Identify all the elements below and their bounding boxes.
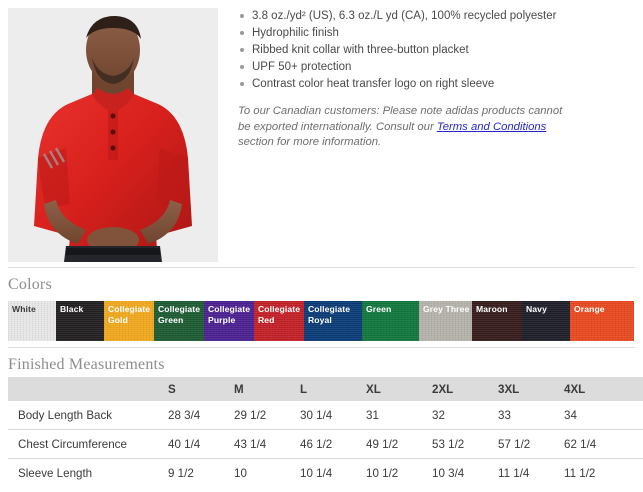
section-divider-measurements [8, 347, 635, 348]
table-row: Chest Circumference 40 1/4 43 1/4 46 1/2… [8, 429, 643, 458]
feature-text: Ribbed knit collar with three-button pla… [252, 44, 469, 56]
feature-text: UPF 50+ protection [252, 61, 351, 73]
list-item: 3.8 oz./yd² (US), 6.3 oz./L yd (CA), 100… [238, 8, 636, 25]
swatch-label: Collegiate Green [158, 304, 203, 325]
column-header-3xl: 3XL [498, 383, 564, 396]
cell-value: 53 1/2 [432, 438, 498, 451]
cell-value: 34 [564, 409, 630, 422]
swatch-label: Collegiate Red [258, 304, 303, 325]
table-row: Body Length Back 28 3/4 29 1/2 30 1/4 31… [8, 401, 643, 429]
feature-text: 3.8 oz./yd² (US), 6.3 oz./L yd (CA), 100… [252, 10, 556, 22]
color-swatch-navy[interactable]: Navy [522, 301, 570, 341]
row-label: Chest Circumference [8, 438, 168, 451]
canadian-customers-note: To our Canadian customers: Please note a… [238, 104, 568, 151]
bullet-icon [240, 31, 244, 35]
cell-value: 11 1/4 [498, 467, 564, 480]
feature-text: Contrast color heat transfer logo on rig… [252, 78, 494, 90]
bullet-icon [240, 82, 244, 86]
cell-value: 10 1/4 [300, 467, 366, 480]
model-illustration [8, 8, 218, 262]
color-swatch-collegiate-royal[interactable]: Collegiate Royal [304, 301, 362, 341]
cell-value: 33 [498, 409, 564, 422]
product-overview-section: 3.8 oz./yd² (US), 6.3 oz./L yd (CA), 100… [0, 0, 643, 262]
color-swatch-maroon[interactable]: Maroon [472, 301, 522, 341]
bullet-icon [240, 65, 244, 69]
swatch-label: Black [60, 304, 103, 315]
cell-value: 10 [234, 467, 300, 480]
cell-value: 10 1/2 [366, 467, 432, 480]
column-header-4xl: 4XL [564, 383, 630, 396]
table-header-row: S M L XL 2XL 3XL 4XL [8, 377, 643, 401]
color-swatch-grey-three[interactable]: Grey Three [419, 301, 472, 341]
cell-value: 40 1/4 [168, 438, 234, 451]
color-swatch-collegiate-purple[interactable]: Collegiate Purple [204, 301, 254, 341]
swatch-label: Orange [574, 304, 633, 315]
color-swatch-collegiate-green[interactable]: Collegiate Green [154, 301, 204, 341]
cell-value: 49 1/2 [366, 438, 432, 451]
color-swatch-green[interactable]: Green [362, 301, 419, 341]
swatch-label: White [12, 304, 55, 315]
swatch-label: Collegiate Purple [208, 304, 253, 325]
swatch-label: Collegiate Gold [108, 304, 153, 325]
list-item: UPF 50+ protection [238, 59, 636, 76]
cell-value: 30 1/4 [300, 409, 366, 422]
product-image[interactable] [8, 8, 218, 262]
color-swatch-white[interactable]: White [8, 301, 56, 341]
note-text-after: section for more information. [238, 136, 381, 148]
bullet-icon [240, 48, 244, 52]
swatch-label: Green [366, 304, 418, 315]
swatch-label: Grey Three [423, 304, 471, 315]
cell-value: 10 3/4 [432, 467, 498, 480]
color-swatch-list: White Black Collegiate Gold Collegiate G… [8, 301, 634, 341]
measurements-heading: Finished Measurements [8, 356, 165, 374]
column-header-2xl: 2XL [432, 383, 498, 396]
column-header-s: S [168, 383, 234, 396]
finished-measurements-table: S M L XL 2XL 3XL 4XL Body Length Back 28… [8, 377, 643, 487]
row-label: Sleeve Length [8, 467, 168, 480]
list-item: Ribbed knit collar with three-button pla… [238, 42, 636, 59]
product-features: 3.8 oz./yd² (US), 6.3 oz./L yd (CA), 100… [238, 8, 636, 162]
cell-value: 32 [432, 409, 498, 422]
list-item: Hydrophilic finish [238, 25, 636, 42]
swatch-label: Navy [526, 304, 569, 315]
color-swatch-black[interactable]: Black [56, 301, 104, 341]
swatch-label: Maroon [476, 304, 521, 315]
column-header-l: L [300, 383, 366, 396]
section-divider-colors [8, 267, 635, 268]
column-header-xl: XL [366, 383, 432, 396]
cell-value: 57 1/2 [498, 438, 564, 451]
feature-text: Hydrophilic finish [252, 27, 339, 39]
cell-value: 62 1/4 [564, 438, 630, 451]
color-swatch-orange[interactable]: Orange [570, 301, 634, 341]
feature-list: 3.8 oz./yd² (US), 6.3 oz./L yd (CA), 100… [238, 8, 636, 93]
cell-value: 28 3/4 [168, 409, 234, 422]
color-swatch-collegiate-red[interactable]: Collegiate Red [254, 301, 304, 341]
cell-value: 9 1/2 [168, 467, 234, 480]
cell-value: 31 [366, 409, 432, 422]
swatch-label: Collegiate Royal [308, 304, 361, 325]
terms-and-conditions-link[interactable]: Terms and Conditions [437, 121, 546, 133]
colors-heading: Colors [8, 276, 52, 294]
color-swatch-collegiate-gold[interactable]: Collegiate Gold [104, 301, 154, 341]
list-item: Contrast color heat transfer logo on rig… [238, 76, 636, 93]
cell-value: 46 1/2 [300, 438, 366, 451]
product-detail-page: 3.8 oz./yd² (US), 6.3 oz./L yd (CA), 100… [0, 0, 643, 492]
row-label: Body Length Back [8, 409, 168, 422]
cell-value: 43 1/4 [234, 438, 300, 451]
cell-value: 29 1/2 [234, 409, 300, 422]
bullet-icon [240, 14, 244, 18]
cell-value: 11 1/2 [564, 467, 630, 480]
column-header-m: M [234, 383, 300, 396]
table-row: Sleeve Length 9 1/2 10 10 1/4 10 1/2 10 … [8, 458, 643, 487]
